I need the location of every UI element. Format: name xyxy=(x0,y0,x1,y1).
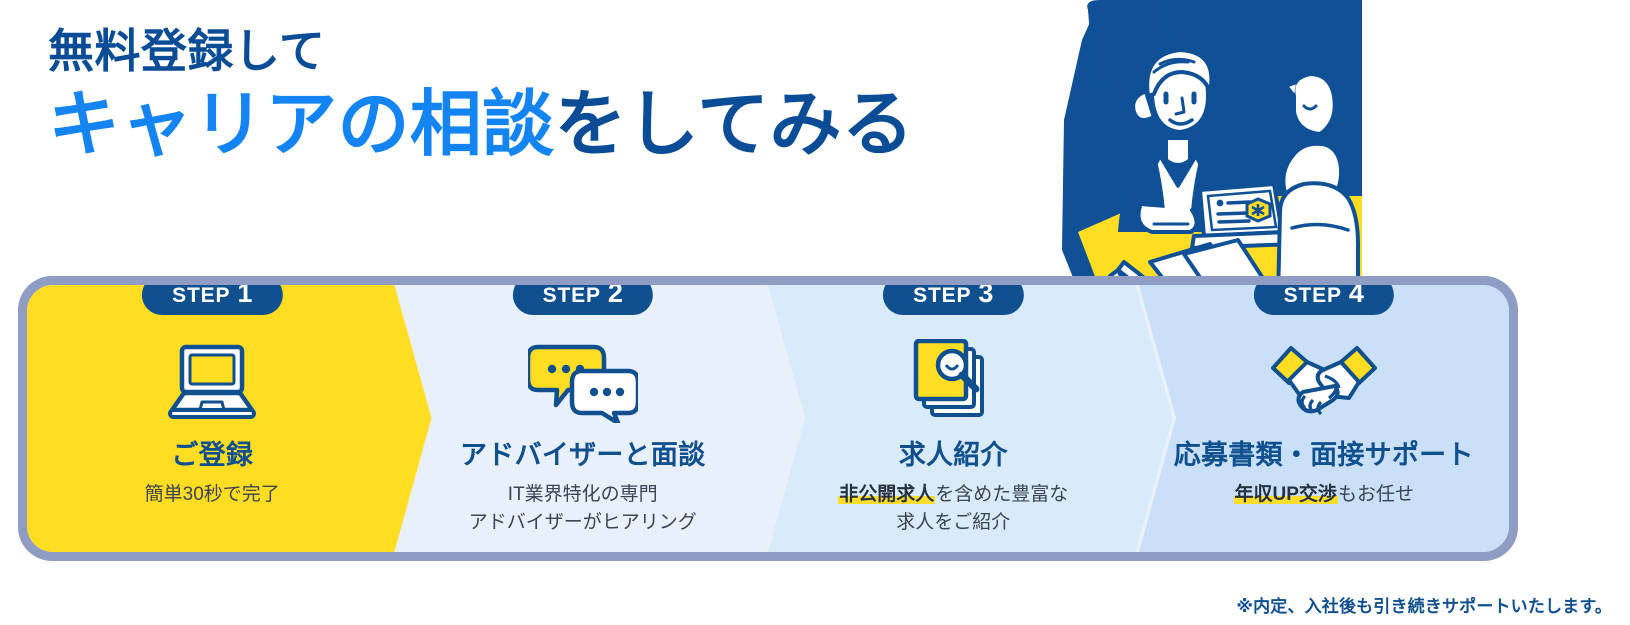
step-3-desc-line-2: 求人をご紹介 xyxy=(838,509,1068,537)
step-4-desc: 年収UP交渉もお任せ xyxy=(1234,481,1414,509)
step-1-desc: 簡単30秒で完了 xyxy=(145,481,280,509)
hero-section: 無料登録して キャリアの相談をしてみる xyxy=(0,0,1630,272)
step-2-desc: IT業界特化の専門 アドバイザーがヒアリング xyxy=(469,481,697,536)
steps-track: STEP 1 ご登録 簡単30秒で完了 xyxy=(27,285,1509,552)
step-card-3[interactable]: STEP 3 求人紹介 非公開求人を含めた豊富な xyxy=(768,285,1139,552)
step-1-badge-word: STEP xyxy=(172,285,230,308)
headline-tail-text: をしてみる xyxy=(555,85,915,165)
step-1-badge-number: 1 xyxy=(237,285,252,307)
step-1-desc-line-1: 簡単30秒で完了 xyxy=(145,481,280,509)
step-3-desc-line-1: 非公開求人を含めた豊富な xyxy=(838,481,1068,509)
step-2-desc-line-1: IT業界特化の専門 xyxy=(469,481,697,509)
step-4-badge-number: 4 xyxy=(1349,285,1364,307)
step-2-badge-word: STEP xyxy=(543,285,601,308)
step-2-desc-line-2: アドバイザーがヒアリング xyxy=(469,509,697,537)
step-1-badge: STEP 1 xyxy=(142,285,282,315)
step-card-2[interactable]: STEP 2 アドバイザーと面談 xyxy=(398,285,769,552)
step-2-badge: STEP 2 xyxy=(513,285,653,315)
step-3-desc: 非公開求人を含めた豊富な 求人をご紹介 xyxy=(838,481,1068,536)
step-4-badge-word: STEP xyxy=(1284,285,1342,308)
laptop-icon xyxy=(166,333,258,431)
step-3-badge-word: STEP xyxy=(913,285,971,308)
step-2-badge-number: 2 xyxy=(608,285,623,307)
headline-line-1: 無料登録して xyxy=(48,24,948,78)
documents-search-icon xyxy=(910,333,996,431)
consultation-illustration xyxy=(1042,0,1362,300)
handshake-icon xyxy=(1269,333,1379,431)
headline-accent-text: キャリアの相談 xyxy=(48,85,555,165)
step-1-title: ご登録 xyxy=(171,439,253,471)
step-4-badge: STEP 4 xyxy=(1254,285,1394,315)
step-3-badge-number: 3 xyxy=(978,285,993,307)
step-4-highlight: 年収UP交渉 xyxy=(1234,484,1338,505)
step-4-desc-line-1-rest: もお任せ xyxy=(1338,484,1414,505)
step-card-1[interactable]: STEP 1 ご登録 簡単30秒で完了 xyxy=(27,285,398,552)
headline: 無料登録して キャリアの相談をしてみる xyxy=(48,24,948,168)
step-2-title: アドバイザーと面談 xyxy=(460,439,705,471)
footnote: ※内定、入社後も引き続きサポートいたします。 xyxy=(1236,592,1612,617)
step-4-title: 応募書類・面接サポート xyxy=(1174,439,1474,471)
headline-line-2: キャリアの相談をしてみる xyxy=(48,84,948,168)
step-3-badge: STEP 3 xyxy=(883,285,1023,315)
step-3-title: 求人紹介 xyxy=(899,439,1008,471)
step-3-highlight: 非公開求人 xyxy=(838,484,935,505)
step-4-desc-line-1: 年収UP交渉もお任せ xyxy=(1234,481,1414,509)
step-card-4[interactable]: STEP 4 xyxy=(1139,285,1510,552)
chat-bubbles-icon xyxy=(528,333,638,431)
steps-band: STEP 1 ご登録 簡単30秒で完了 xyxy=(18,276,1518,561)
step-3-desc-line-1-rest: を含めた豊富な xyxy=(935,484,1068,505)
